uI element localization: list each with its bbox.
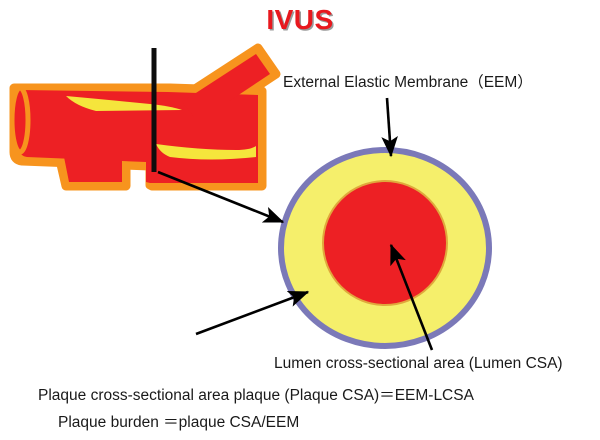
arrow-lumen-label-to-lumen [391,245,432,350]
arrow-cut-plane-to-cross-section [158,172,283,222]
ivus-diagram-slide: IVUS [0,0,600,440]
label-external-elastic-membrane: External Elastic Membrane（EEM） [283,74,533,92]
arrow-eem-label-to-membrane [387,98,391,156]
formula-plaque-csa: Plaque cross-sectional area plaque (Plaq… [38,387,474,405]
annotation-arrows [0,0,600,440]
formula-plaque-burden: Plaque burden ＝plaque CSA/EEM [58,414,299,432]
arrow-plaque-ring-pointer [196,292,308,334]
label-lumen-cross-sectional-area: Lumen cross-sectional area (Lumen CSA) [274,355,563,373]
